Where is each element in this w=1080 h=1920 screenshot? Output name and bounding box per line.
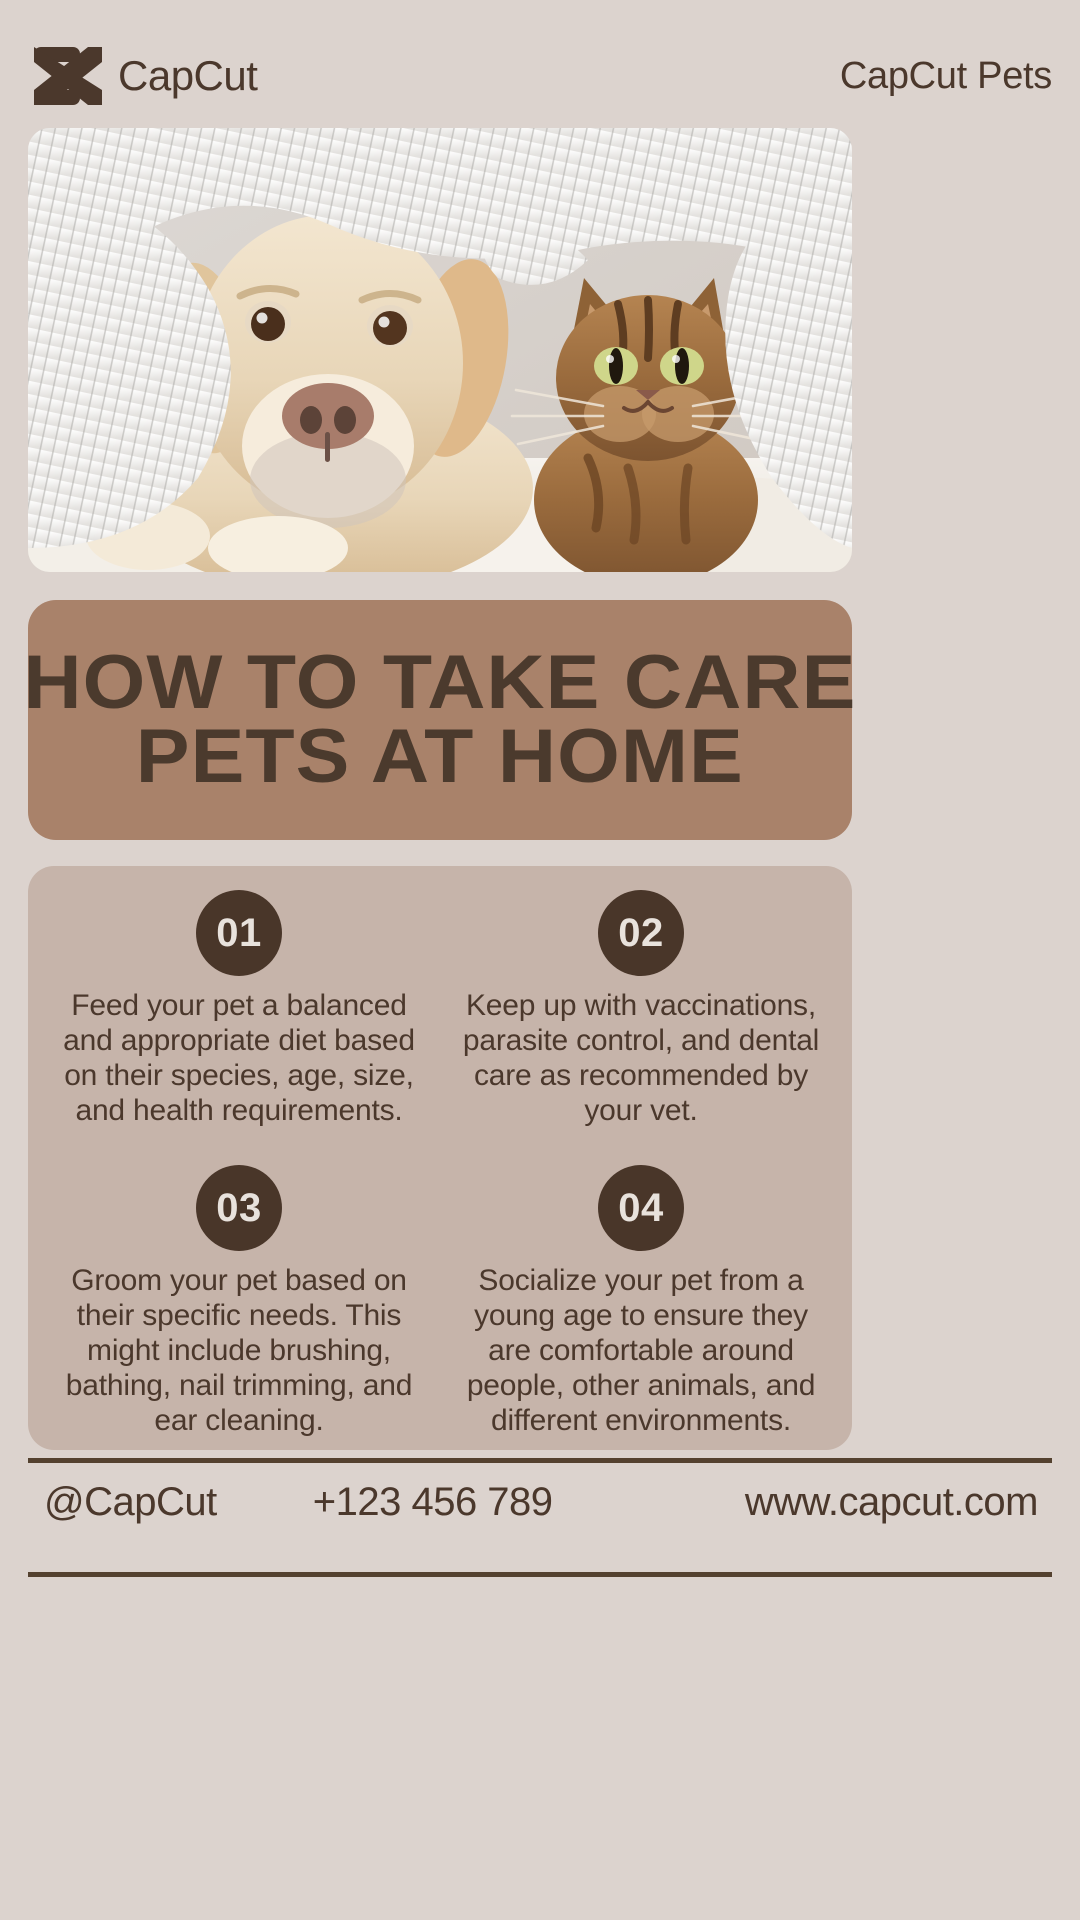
title-banner: HOW TO TAKE CARE PETS AT HOME [28, 600, 852, 840]
header: CapCut CapCut Pets [28, 40, 1052, 112]
tip-number-badge: 04 [598, 1165, 684, 1251]
tip-text: Groom your pet based on their specific n… [52, 1263, 426, 1438]
footer-social-handle[interactable]: @CapCut [44, 1482, 217, 1522]
tip-number-badge: 03 [196, 1165, 282, 1251]
page-title-line-2: PETS AT HOME [136, 720, 744, 794]
infographic-page: CapCut CapCut Pets [0, 0, 1080, 1920]
tip-text: Keep up with vaccinations, parasite cont… [454, 988, 828, 1128]
tip-text: Socialize your pet from a young age to e… [454, 1263, 828, 1438]
header-right-label: CapCut Pets [840, 57, 1052, 95]
brand: CapCut [28, 47, 257, 105]
brand-name: CapCut [118, 55, 257, 97]
footer-phone-number[interactable]: +123 456 789 [313, 1482, 553, 1522]
tips-card: 01 Feed your pet a balanced and appropri… [28, 866, 852, 1450]
footer-divider-bottom [28, 1572, 1052, 1577]
tip-text: Feed your pet a balanced and appropriate… [52, 988, 426, 1128]
tip-item-01: 01 Feed your pet a balanced and appropri… [38, 890, 440, 1165]
tip-number-badge: 01 [196, 890, 282, 976]
footer-contact-row: @CapCut +123 456 789 www.capcut.com [28, 1482, 1052, 1522]
footer: @CapCut +123 456 789 www.capcut.com [28, 1458, 1052, 1578]
hero-image [28, 128, 852, 572]
tip-item-04: 04 Socialize your pet from a young age t… [440, 1165, 842, 1440]
tip-item-02: 02 Keep up with vaccinations, parasite c… [440, 890, 842, 1165]
page-title-line-1: HOW TO TAKE CARE [24, 646, 857, 720]
tip-number-badge: 02 [598, 890, 684, 976]
capcut-logo-icon [28, 47, 102, 105]
footer-website-url[interactable]: www.capcut.com [745, 1482, 1038, 1522]
tip-item-03: 03 Groom your pet based on their specifi… [38, 1165, 440, 1440]
footer-divider-top [28, 1458, 1052, 1463]
